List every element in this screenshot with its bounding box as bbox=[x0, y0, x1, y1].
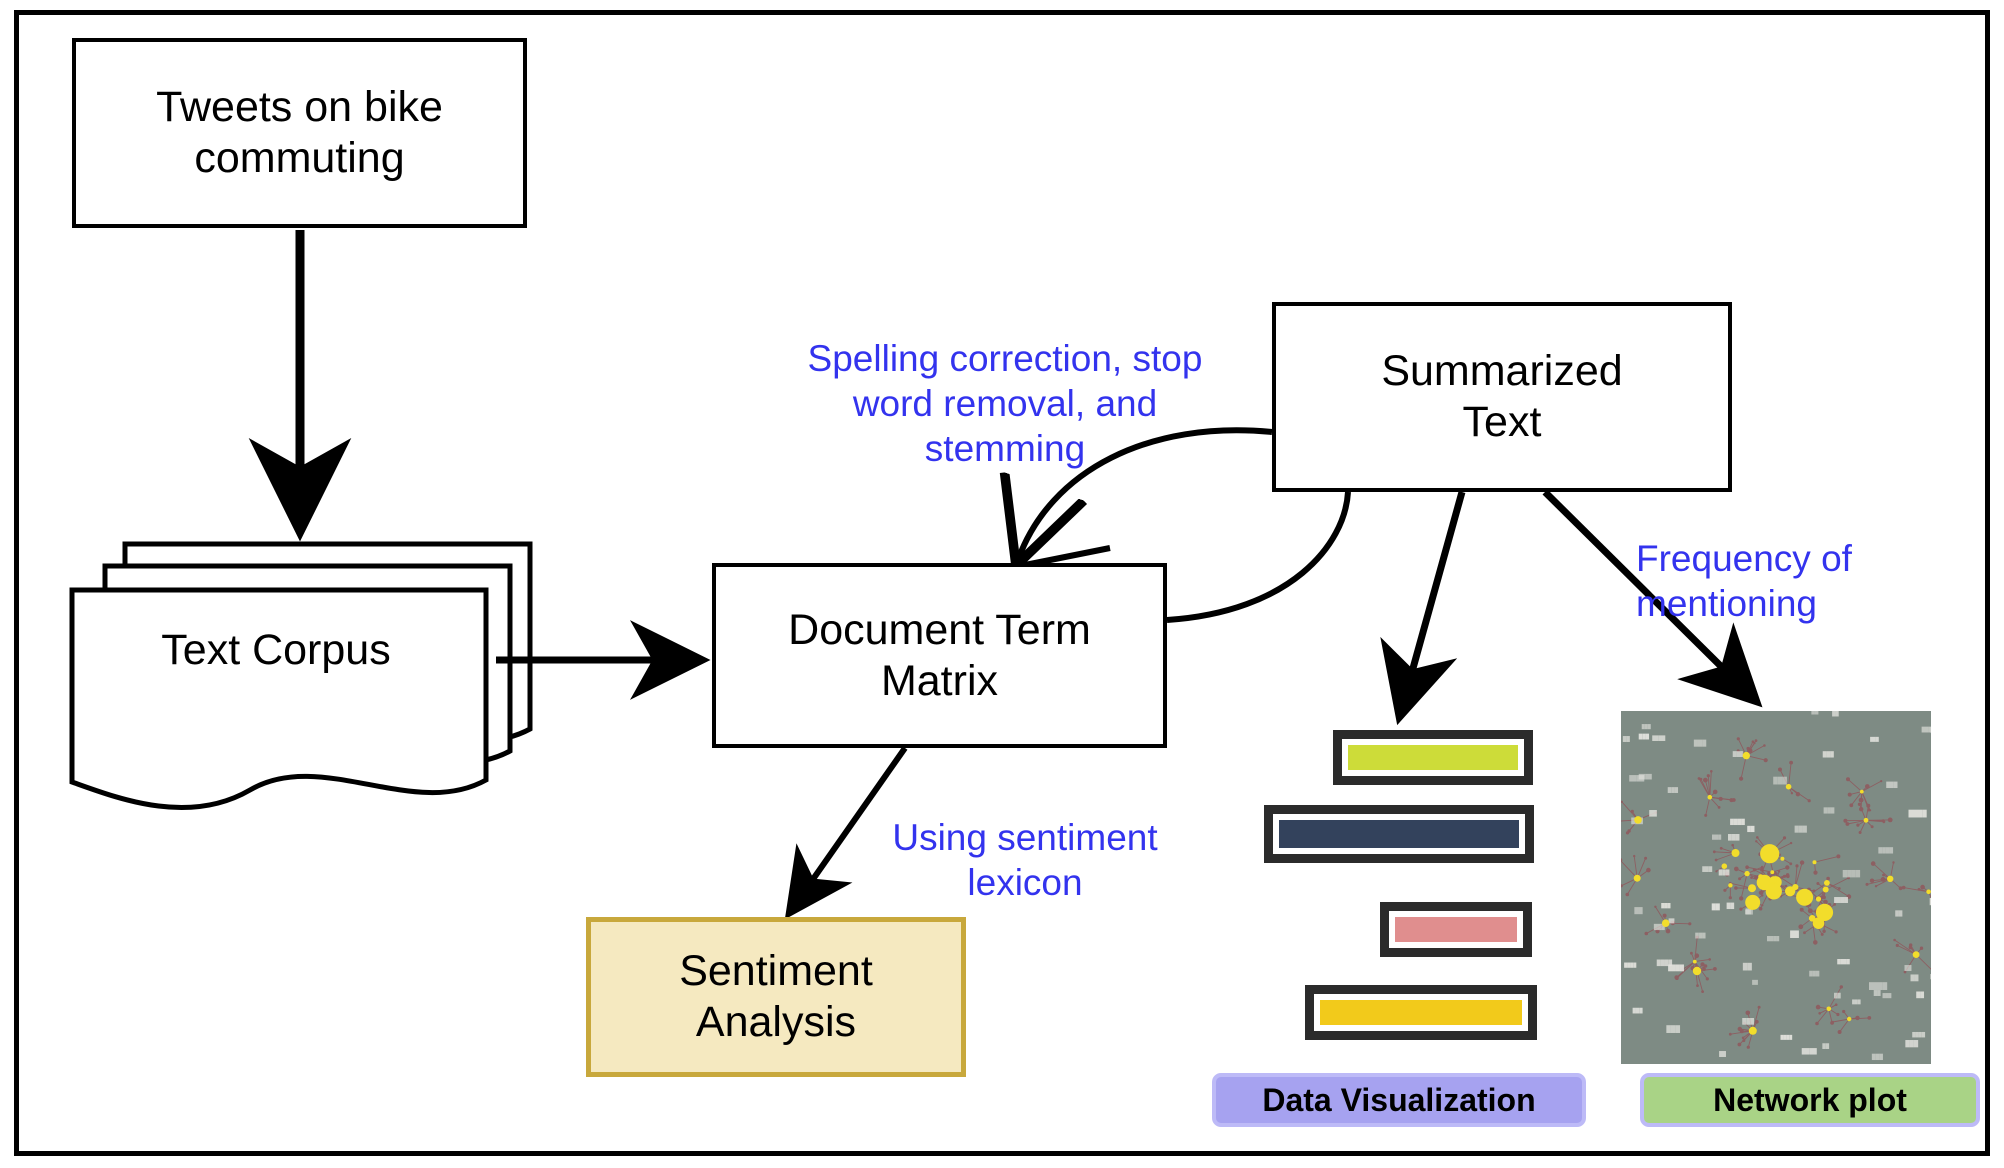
svg-text:██: ██ bbox=[1895, 910, 1903, 917]
svg-text:██: ██ bbox=[1916, 992, 1924, 999]
dataviz-bar-4-fill bbox=[1320, 1000, 1522, 1025]
svg-text:██: ██ bbox=[1834, 992, 1841, 999]
svg-text:███: ███ bbox=[1633, 1007, 1644, 1014]
svg-text:███: ███ bbox=[1639, 733, 1650, 740]
network-plot-svg: ████████████████████████████████████████… bbox=[1621, 711, 1931, 1064]
dataviz-bar-4 bbox=[1305, 985, 1537, 1040]
svg-text:██: ██ bbox=[1719, 1050, 1726, 1057]
svg-text:████: ████ bbox=[1834, 897, 1848, 904]
dataviz-bar-3 bbox=[1380, 902, 1532, 957]
svg-text:██: ██ bbox=[1747, 826, 1755, 833]
svg-text:███: ███ bbox=[1773, 777, 1787, 785]
annotation-frequency-of-mentioning: Frequency of mentioning bbox=[1636, 536, 1926, 626]
svg-text:███: ███ bbox=[1809, 970, 1820, 977]
network-plot-image: ████████████████████████████████████████… bbox=[1621, 711, 1931, 1064]
svg-text:████: ████ bbox=[1639, 773, 1653, 780]
node-tweets-on-bike-commuting[interactable]: Tweets on bike commuting bbox=[72, 38, 527, 228]
dataviz-bar-1 bbox=[1333, 730, 1533, 785]
svg-text:███: ███ bbox=[1930, 897, 1931, 905]
node-label: Tweets on bike commuting bbox=[156, 82, 443, 183]
svg-text:████: ████ bbox=[1922, 726, 1931, 733]
svg-text:███: ███ bbox=[1733, 750, 1744, 757]
svg-text:████: ████ bbox=[1657, 959, 1672, 966]
svg-text:██: ██ bbox=[1905, 964, 1912, 971]
svg-text:████: ████ bbox=[1909, 809, 1928, 817]
svg-text:██: ██ bbox=[1743, 963, 1752, 971]
caption-network-plot: Network plot bbox=[1640, 1073, 1980, 1127]
node-label: Sentiment Analysis bbox=[679, 946, 873, 1047]
node-label: Document Term Matrix bbox=[788, 605, 1091, 706]
svg-text:███: ███ bbox=[1666, 1025, 1680, 1033]
svg-text:██: ██ bbox=[1911, 974, 1919, 982]
svg-text:██: ██ bbox=[1623, 736, 1630, 743]
svg-text:███: ███ bbox=[1742, 1018, 1754, 1025]
svg-text:███: ███ bbox=[1886, 782, 1898, 789]
svg-text:██: ██ bbox=[1649, 810, 1657, 817]
node-summarized-text[interactable]: Summarized Text bbox=[1272, 302, 1732, 492]
svg-text:███: ███ bbox=[1872, 1054, 1883, 1061]
svg-text:███: ███ bbox=[1695, 932, 1706, 939]
svg-text:██: ██ bbox=[1712, 903, 1721, 911]
svg-text:███: ███ bbox=[1728, 834, 1740, 841]
svg-text:██: ██ bbox=[1634, 906, 1643, 914]
svg-text:███: ███ bbox=[1795, 825, 1808, 833]
node-label: Summarized Text bbox=[1381, 346, 1622, 447]
node-text-corpus[interactable]: Text Corpus bbox=[86, 615, 466, 685]
svg-text:███: ███ bbox=[1702, 866, 1713, 873]
svg-text:████: ████ bbox=[1843, 870, 1861, 878]
svg-text:████: ████ bbox=[1912, 1031, 1926, 1038]
svg-text:██: ██ bbox=[1727, 903, 1735, 910]
svg-text:████: ████ bbox=[1652, 734, 1666, 741]
dataviz-bar-2 bbox=[1264, 805, 1534, 863]
diagram-canvas: Tweets on bike commuting Text Corpus Doc… bbox=[0, 0, 2004, 1168]
svg-text:███: ███ bbox=[1694, 739, 1707, 747]
svg-text:████: ████ bbox=[1869, 982, 1888, 990]
svg-text:███: ███ bbox=[1823, 751, 1834, 758]
node-document-term-matrix[interactable]: Document Term Matrix bbox=[712, 563, 1167, 748]
svg-text:████: ████ bbox=[1878, 847, 1893, 854]
svg-text:███: ███ bbox=[1905, 1040, 1919, 1048]
annotation-sentiment-lexicon: Using sentiment lexicon bbox=[870, 815, 1180, 905]
svg-text:███: ███ bbox=[1719, 869, 1730, 876]
svg-text:██: ██ bbox=[1811, 711, 1819, 715]
svg-text:████: ████ bbox=[1802, 1048, 1817, 1055]
dataviz-bar-2-fill bbox=[1279, 820, 1519, 848]
svg-text:██: ██ bbox=[1874, 989, 1881, 996]
svg-text:███: ███ bbox=[1824, 807, 1835, 814]
dataviz-bar-3-fill bbox=[1395, 917, 1517, 942]
node-sentiment-analysis[interactable]: Sentiment Analysis bbox=[586, 917, 966, 1077]
svg-text:██: ██ bbox=[1822, 1042, 1829, 1049]
svg-text:███: ███ bbox=[1668, 787, 1679, 794]
annotation-preprocessing: Spelling correction, stop word removal, … bbox=[770, 336, 1240, 471]
svg-text:██: ██ bbox=[1790, 930, 1799, 938]
dataviz-bar-1-fill bbox=[1348, 745, 1518, 770]
svg-text:████: ████ bbox=[1730, 818, 1745, 825]
node-label: Text Corpus bbox=[161, 625, 390, 676]
caption-data-visualization: Data Visualization bbox=[1212, 1073, 1586, 1127]
